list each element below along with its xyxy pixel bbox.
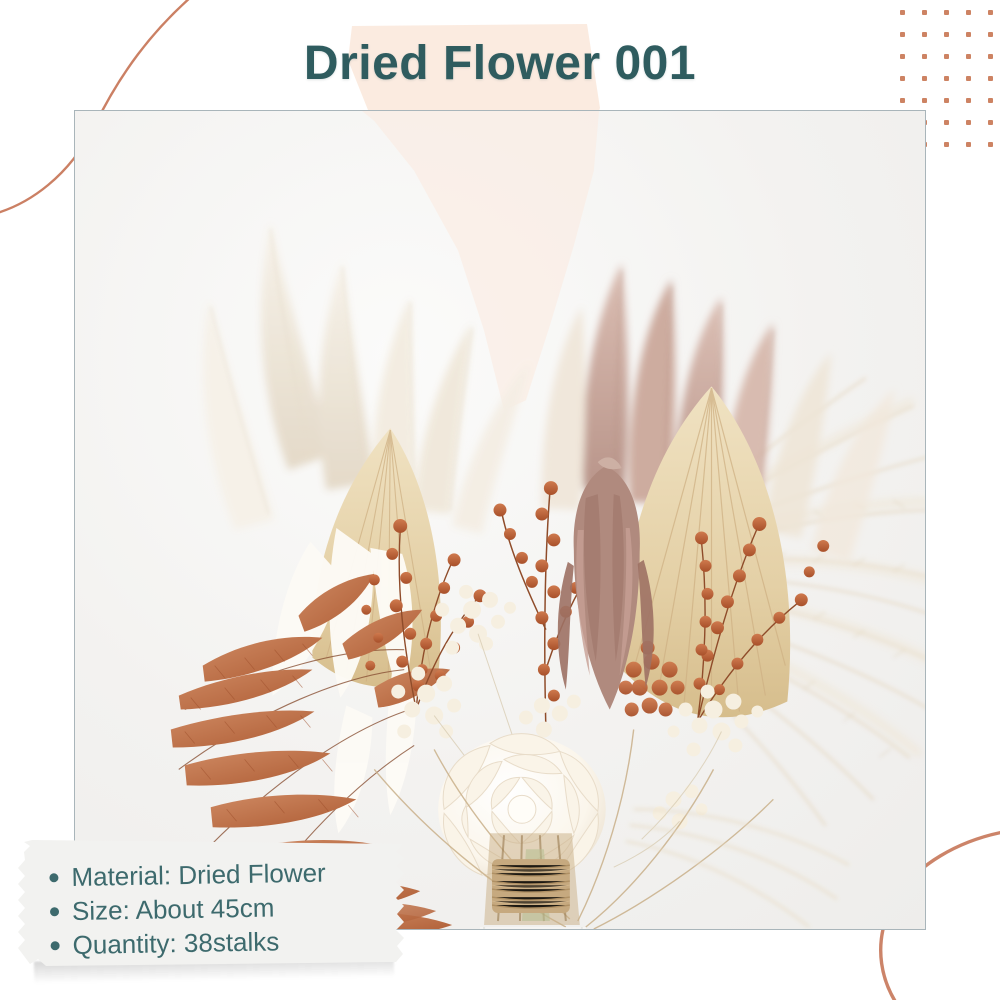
decorative-dot: [988, 120, 993, 125]
decorative-dot: [900, 98, 905, 103]
decorative-dot: [988, 10, 993, 15]
product-spec-list: Material: Dried Flower Size: About 45cm …: [45, 856, 327, 963]
page-title: Dried Flower 001: [0, 36, 1000, 91]
decorative-dot: [944, 120, 949, 125]
bullet-icon: [50, 907, 59, 916]
dried-flower-bouquet-illustration: [75, 111, 925, 929]
product-info-card: Material: Dried Flower Size: About 45cm …: [16, 840, 408, 972]
decorative-dot: [966, 142, 971, 147]
spec-item-quantity: Quantity: 38stalks: [72, 924, 327, 962]
decorative-dot: [944, 142, 949, 147]
decorative-dot: [966, 10, 971, 15]
product-photo-frame: [74, 110, 926, 930]
decorative-dot: [988, 98, 993, 103]
decorative-dot: [922, 10, 927, 15]
bullet-icon: [51, 941, 60, 950]
product-photo: [75, 111, 925, 929]
decorative-dot: [944, 98, 949, 103]
decorative-dot: [944, 10, 949, 15]
product-image-canvas: Dried Flower 001: [0, 0, 1000, 1000]
bullet-icon: [49, 873, 58, 882]
decorative-dot: [966, 98, 971, 103]
decorative-dot: [922, 98, 927, 103]
spec-text-quantity: Quantity: 38stalks: [72, 926, 279, 960]
spec-item-size: Size: About 45cm: [72, 890, 327, 928]
decorative-dot: [900, 10, 905, 15]
spec-item-material: Material: Dried Flower: [71, 856, 326, 894]
spec-text-size: Size: About 45cm: [72, 892, 275, 926]
decorative-dot: [966, 120, 971, 125]
decorative-dot: [988, 142, 993, 147]
spec-text-material: Material: Dried Flower: [71, 858, 326, 892]
